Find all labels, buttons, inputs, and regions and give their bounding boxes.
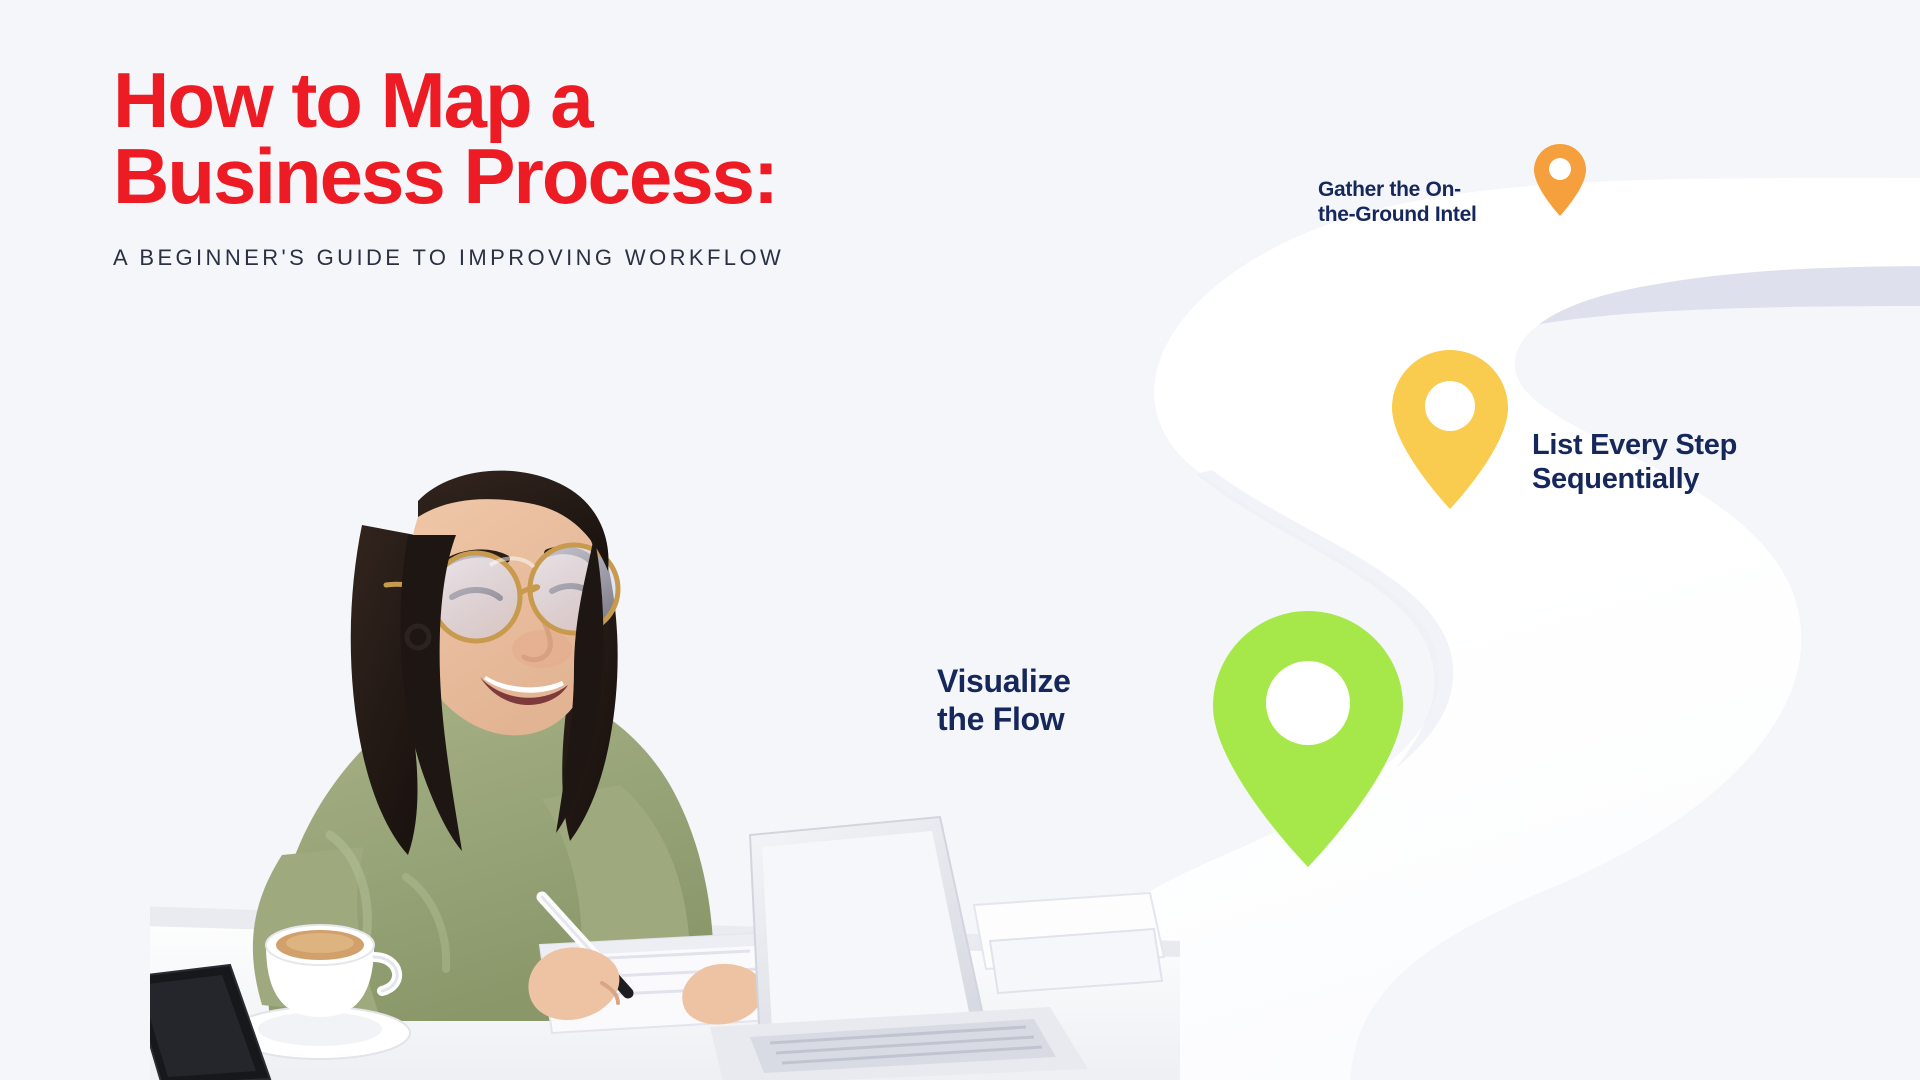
orange-map-pin-icon	[1533, 143, 1587, 217]
infographic-canvas: How to Map a Business Process: A BEGINNE…	[0, 0, 1920, 1080]
step-label-gather: Gather the On- the-Ground Intel	[1318, 178, 1477, 228]
headline-block: How to Map a Business Process: A BEGINNE…	[113, 62, 784, 271]
road-ribbon	[1012, 178, 1920, 1080]
step-label-list: List Every Step Sequentially	[1532, 428, 1737, 496]
green-map-pin-icon	[1210, 608, 1406, 870]
page-subtitle: A BEGINNER'S GUIDE TO IMPROVING WORKFLOW	[113, 245, 784, 271]
step-label-visualize: Visualize the Flow	[937, 663, 1071, 739]
page-title: How to Map a Business Process:	[113, 62, 784, 215]
yellow-map-pin-icon	[1390, 348, 1510, 511]
